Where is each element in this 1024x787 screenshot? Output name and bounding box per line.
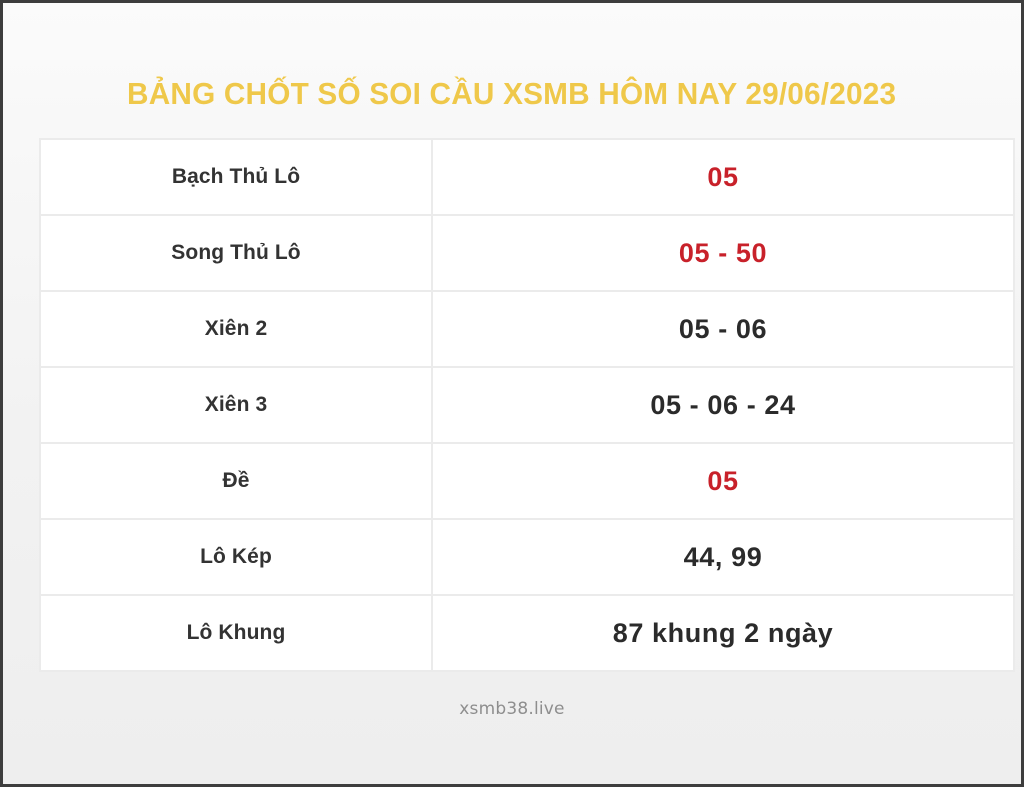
row-label-xien-2: Xiên 2 [40,291,432,367]
table-row: Xiên 3 05 - 06 - 24 [40,367,1014,443]
table-row: Bạch Thủ Lô 05 [40,139,1014,215]
row-label-bach-thu-lo: Bạch Thủ Lô [40,139,432,215]
page-title: BẢNG CHỐT SỐ SOI CẦU XSMB HÔM NAY 29/06/… [127,3,896,111]
screenshot-frame: BẢNG CHỐT SỐ SOI CẦU XSMB HÔM NAY 29/06/… [0,0,1024,787]
row-label-xien-3: Xiên 3 [40,367,432,443]
row-value-lo-khung: 87 khung 2 ngày [432,595,1014,671]
row-value-de: 05 [432,443,1014,519]
table-row: Lô Kép 44, 99 [40,519,1014,595]
table-row: Song Thủ Lô 05 - 50 [40,215,1014,291]
row-label-lo-khung: Lô Khung [40,595,432,671]
row-label-lo-kep: Lô Kép [40,519,432,595]
table-row: Xiên 2 05 - 06 [40,291,1014,367]
table-row: Lô Khung 87 khung 2 ngày [40,595,1014,671]
table-row: Đề 05 [40,443,1014,519]
row-value-lo-kep: 44, 99 [432,519,1014,595]
soi-cau-table: Bạch Thủ Lô 05 Song Thủ Lô 05 - 50 Xiên … [39,138,1015,672]
row-label-song-thu-lo: Song Thủ Lô [40,215,432,291]
table-body: Bạch Thủ Lô 05 Song Thủ Lô 05 - 50 Xiên … [40,139,1014,671]
soi-cau-table-container: Bạch Thủ Lô 05 Song Thủ Lô 05 - 50 Xiên … [39,138,985,672]
footer-site-label: xsmb38.live [459,699,564,719]
row-value-song-thu-lo: 05 - 50 [432,215,1014,291]
row-value-bach-thu-lo: 05 [432,139,1014,215]
row-value-xien-3: 05 - 06 - 24 [432,367,1014,443]
row-value-xien-2: 05 - 06 [432,291,1014,367]
row-label-de: Đề [40,443,432,519]
